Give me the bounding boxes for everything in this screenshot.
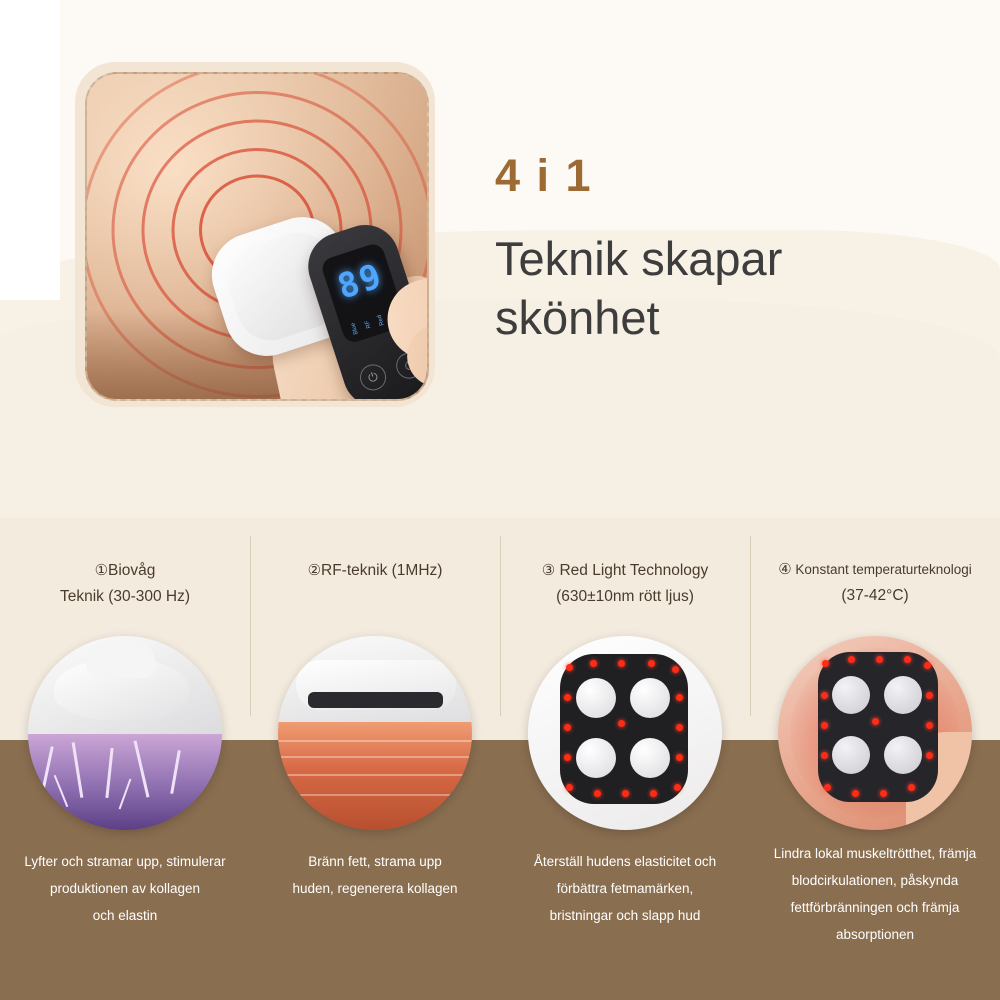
led-dot-3 [618, 660, 625, 667]
bolt-icon-5 [170, 750, 181, 794]
feature-1-device-top [86, 640, 156, 678]
bolt-icon-4 [134, 740, 150, 797]
feature-title-2-line1: RF-teknik (1MHz) [321, 562, 442, 579]
hero-product-photo: 89 Blue RF Red ⏻ ⏱ [85, 72, 429, 401]
led-dot-12 [618, 720, 625, 727]
led-dot-4-10 [926, 722, 933, 729]
feature-title-4-line2: (37-42°C) [841, 587, 908, 604]
led-dot-4-12 [872, 718, 879, 725]
device-display-value: 89 [333, 256, 388, 308]
led-dot-6 [564, 694, 571, 701]
feature-number-4: ④ [778, 561, 791, 578]
lens-icon-6 [884, 676, 922, 714]
feature-image-2 [278, 636, 472, 830]
feature-desc-2-line1: Bränn fett, strama upp [258, 848, 492, 875]
feature-desc-4-line1: Lindra lokal muskeltrötthet, främja [758, 840, 992, 867]
device-label-blue: Blue [350, 322, 359, 335]
headline-line-2: skönhet [495, 289, 965, 348]
badge-4-in-1: 4 i 1 [495, 150, 965, 202]
bolt-icon-6 [54, 775, 69, 807]
led-dot-4-2 [848, 656, 855, 663]
led-dot-4-14 [852, 790, 859, 797]
feature-title-4: ④ Konstant temperaturteknologi (37-42°C) [756, 558, 994, 608]
feature-title-3-line2: (630±10nm rött ljus) [556, 588, 694, 605]
device-screen-labels: Blue RF Red [348, 315, 387, 333]
feature-desc-3-line1: Återställ hudens elasticitet och [508, 848, 742, 875]
feature-desc-3: Återställ hudens elasticitet och förbätt… [508, 848, 742, 929]
led-dot-4-11 [926, 752, 933, 759]
feature-image-3 [528, 636, 722, 830]
feature-title-1-line2: Teknik (30-300 Hz) [60, 588, 190, 605]
bolt-icon-2 [72, 742, 84, 798]
power-button-icon: ⏻ [357, 361, 390, 394]
feature-desc-2: Bränn fett, strama upp huden, regenerera… [258, 848, 492, 902]
feature-number-2: ② [308, 562, 321, 579]
led-dot-4-16 [908, 784, 915, 791]
led-dot-7 [564, 724, 571, 731]
feature-desc-4-line2: blodcirkulationen, påskynda [758, 867, 992, 894]
led-dot-9 [676, 694, 683, 701]
lens-icon-1 [576, 678, 616, 718]
feature-3-led-pad [560, 654, 688, 804]
lens-icon-7 [832, 736, 870, 774]
feature-column-2: ②RF-teknik (1MHz) Bränn fett, strama upp… [250, 518, 500, 1000]
bolt-icon-3 [105, 748, 113, 798]
feature-title-2: ②RF-teknik (1MHz) [256, 558, 494, 584]
lens-icon-8 [884, 736, 922, 774]
feature-4-led-pad [818, 652, 938, 802]
led-dot-11 [676, 754, 683, 761]
feature-desc-4-line4: absorptionen [758, 921, 992, 948]
led-dot-4-7 [821, 722, 828, 729]
feature-desc-4-line3: fettförbränningen och främja [758, 894, 992, 921]
feature-desc-2-line2: huden, regenerera kollagen [258, 875, 492, 902]
led-dot-4-5 [924, 662, 931, 669]
feature-column-4: ④ Konstant temperaturteknologi (37-42°C) [750, 518, 1000, 1000]
led-dot-5 [672, 666, 679, 673]
led-dot-15 [622, 790, 629, 797]
led-dot-14 [594, 790, 601, 797]
headline-line-1: Teknik skapar [495, 230, 965, 289]
headline-block: 4 i 1 Teknik skapar skönhet [495, 150, 965, 348]
led-dot-16 [650, 790, 657, 797]
feature-image-1 [28, 636, 222, 830]
led-dot-4-15 [880, 790, 887, 797]
heat-wave-1 [278, 740, 472, 742]
feature-title-1: ①Biovåg Teknik (30-300 Hz) [6, 558, 244, 609]
lens-icon-5 [832, 676, 870, 714]
feature-column-3: ③ Red Light Technology (630±10nm rött lj… [500, 518, 750, 1000]
background-white-left [0, 0, 60, 300]
led-dot-4 [648, 660, 655, 667]
feature-desc-1-line3: och elastin [8, 902, 242, 929]
feature-1-skin-layer [28, 734, 222, 830]
device-label-red: Red [377, 314, 386, 326]
feature-title-3: ③ Red Light Technology (630±10nm rött lj… [506, 558, 744, 609]
page-title: Teknik skapar skönhet [495, 230, 965, 348]
feature-number-1: ① [95, 562, 108, 579]
lens-icon-2 [630, 678, 670, 718]
heat-wave-4 [278, 794, 472, 796]
led-dot-4-9 [926, 692, 933, 699]
feature-column-1: ①Biovåg Teknik (30-300 Hz) Lyfter och st… [0, 518, 250, 1000]
led-dot-4-13 [824, 784, 831, 791]
bolt-icon-7 [119, 779, 132, 810]
feature-2-heat-layer [278, 722, 472, 830]
led-dot-4-6 [821, 692, 828, 699]
device-label-rf: RF [364, 319, 372, 328]
feature-desc-1-line1: Lyfter och stramar upp, stimulerar [8, 848, 242, 875]
feature-desc-3-line3: bristningar och slapp hud [508, 902, 742, 929]
hero-product-photo-card: 89 Blue RF Red ⏻ ⏱ [75, 62, 435, 407]
feature-title-4-line1: Konstant temperaturteknologi [795, 562, 971, 577]
feature-2-device-base [308, 692, 443, 708]
feature-image-4 [778, 636, 972, 830]
feature-desc-1: Lyfter och stramar upp, stimulerar produ… [8, 848, 242, 929]
led-dot-8 [564, 754, 571, 761]
feature-title-3-line1: Red Light Technology [559, 562, 708, 579]
led-dot-4-4 [904, 656, 911, 663]
lens-icon-4 [630, 738, 670, 778]
led-dot-13 [566, 784, 573, 791]
feature-desc-3-line2: förbättra fetmamärken, [508, 875, 742, 902]
led-dot-2 [590, 660, 597, 667]
features-section: ①Biovåg Teknik (30-300 Hz) Lyfter och st… [0, 518, 1000, 1000]
led-dot-17 [674, 784, 681, 791]
lens-icon-3 [576, 738, 616, 778]
heat-wave-3 [278, 774, 472, 776]
feature-title-1-line1: Biovåg [108, 562, 155, 579]
led-dot-10 [676, 724, 683, 731]
feature-desc-4: Lindra lokal muskeltrötthet, främja blod… [758, 840, 992, 948]
bolt-icon-1 [41, 746, 53, 792]
led-dot-4-8 [821, 752, 828, 759]
led-dot-1 [566, 664, 573, 671]
led-dot-4-3 [876, 656, 883, 663]
heat-wave-2 [278, 756, 472, 758]
led-dot-4-1 [822, 660, 829, 667]
feature-desc-1-line2: produktionen av kollagen [8, 875, 242, 902]
feature-number-3: ③ [542, 562, 555, 579]
